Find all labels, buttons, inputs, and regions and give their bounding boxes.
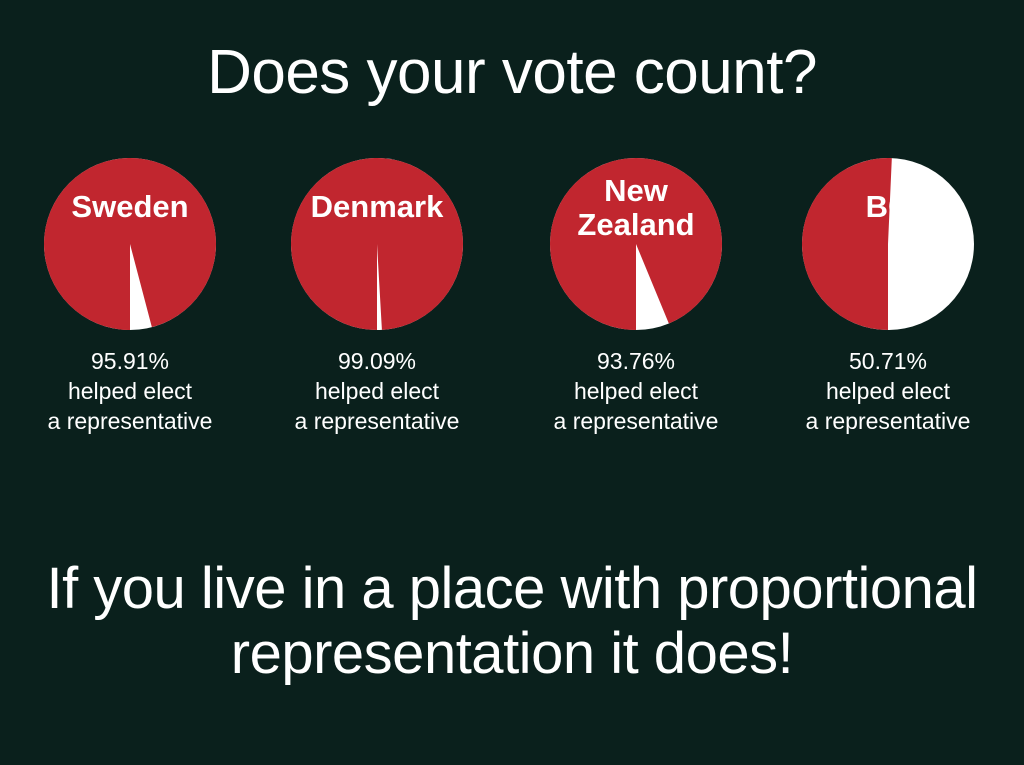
- pie-graphic-denmark: Denmark: [291, 158, 463, 330]
- bottom-statement-line2: representation it does!: [0, 621, 1024, 686]
- pie-percent-value: 93.76%: [508, 346, 764, 376]
- pie-caption-line2: a representative: [249, 406, 505, 436]
- pie-chart-new-zealand: New Zealand 93.76% helped elect a repres…: [508, 158, 764, 448]
- pie-svg-sweden: [44, 158, 216, 330]
- pie-caption-line1: helped elect: [760, 376, 1016, 406]
- bottom-statement-line1: If you live in a place with proportional: [0, 556, 1024, 621]
- pie-caption-line1: helped elect: [2, 376, 258, 406]
- pie-chart-denmark: Denmark 99.09% helped elect a representa…: [249, 158, 505, 448]
- pie-chart-sweden: Sweden 95.91% helped elect a representat…: [2, 158, 258, 448]
- pie-caption-line1: helped elect: [249, 376, 505, 406]
- pie-chart-row: Sweden 95.91% helped elect a representat…: [0, 158, 1024, 448]
- pie-caption-new-zealand: 93.76% helped elect a representative: [508, 346, 764, 436]
- pie-svg-denmark: [291, 158, 463, 330]
- pie-caption-line2: a representative: [2, 406, 258, 436]
- pie-svg-new-zealand: [550, 158, 722, 330]
- pie-caption-line2: a representative: [508, 406, 764, 436]
- pie-slice-filled: [802, 158, 892, 330]
- pie-percent-value: 50.71%: [760, 346, 1016, 376]
- pie-caption-sweden: 95.91% helped elect a representative: [2, 346, 258, 436]
- pie-graphic-bc: BC: [802, 158, 974, 330]
- pie-percent-value: 95.91%: [2, 346, 258, 376]
- pie-caption-line2: a representative: [760, 406, 1016, 436]
- pie-caption-bc: 50.71% helped elect a representative: [760, 346, 1016, 436]
- page-title: Does your vote count?: [0, 38, 1024, 108]
- pie-slice-filled: [550, 158, 722, 330]
- pie-caption-line1: helped elect: [508, 376, 764, 406]
- pie-caption-denmark: 99.09% helped elect a representative: [249, 346, 505, 436]
- bottom-statement: If you live in a place with proportional…: [0, 556, 1024, 686]
- pie-slice-filled: [291, 158, 463, 330]
- pie-svg-bc: [802, 158, 974, 330]
- pie-chart-bc: BC 50.71% helped elect a representative: [760, 158, 1016, 448]
- pie-percent-value: 99.09%: [249, 346, 505, 376]
- infographic-root: Does your vote count? Sweden 95.91% help…: [0, 0, 1024, 765]
- pie-graphic-new-zealand: New Zealand: [550, 158, 722, 330]
- pie-graphic-sweden: Sweden: [44, 158, 216, 330]
